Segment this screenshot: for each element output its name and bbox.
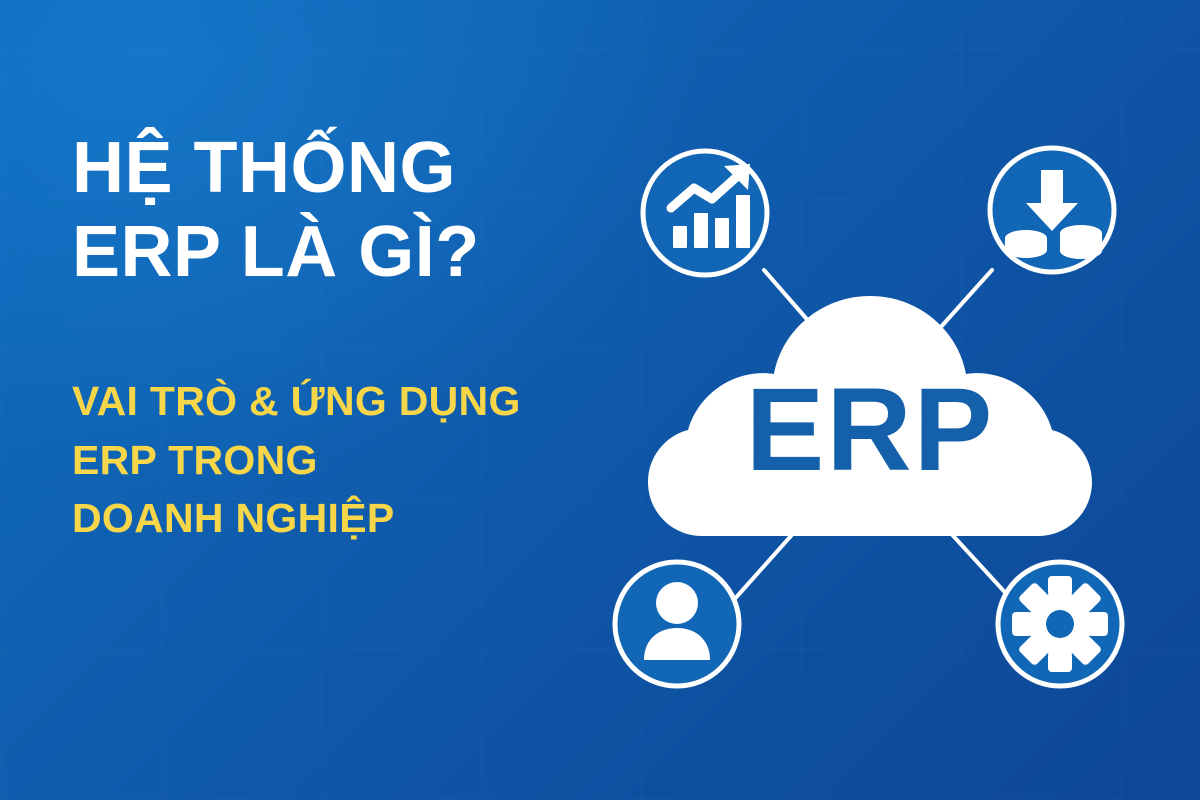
- person-head: [656, 582, 698, 624]
- chart-bar-2: [694, 213, 708, 248]
- node-coins-savings[interactable]: [990, 148, 1114, 272]
- connector-bottom-left: [732, 528, 798, 602]
- coin-stack-right: [1060, 225, 1102, 259]
- chart-bar-4: [736, 195, 750, 248]
- subtitle-line-2: ERP TRONG: [72, 431, 692, 490]
- headline-line-1: HỆ THỐNG: [72, 126, 672, 210]
- erp-cloud: ERP: [648, 296, 1092, 536]
- node-settings[interactable]: [998, 562, 1122, 686]
- headline-line-2: ERP LÀ GÌ?: [72, 210, 672, 294]
- connector-bottom-right: [946, 528, 1012, 600]
- coin-stack-left: [1005, 230, 1047, 258]
- subtitle-line-3: DOANH NGHIỆP: [72, 489, 692, 548]
- chart-bar-1: [673, 226, 687, 248]
- node-user[interactable]: [615, 562, 739, 686]
- subtitle-block: VAI TRÒ & ỨNG DỤNG ERP TRONG DOANH NGHIỆ…: [72, 372, 692, 548]
- headline-block: HỆ THỐNG ERP LÀ GÌ?: [72, 126, 672, 294]
- gear-settings-icon: [1012, 576, 1108, 672]
- gear-center-hole: [1046, 610, 1074, 638]
- cloud-label: ERP: [746, 364, 995, 496]
- coin-l-3: [1005, 242, 1047, 258]
- erp-infographic-banner: HỆ THỐNG ERP LÀ GÌ? VAI TRÒ & ỨNG DỤNG E…: [0, 0, 1200, 800]
- chart-bar-3: [715, 218, 729, 248]
- coin-r-4: [1060, 243, 1102, 259]
- subtitle-line-1: VAI TRÒ & ỨNG DỤNG: [72, 372, 692, 431]
